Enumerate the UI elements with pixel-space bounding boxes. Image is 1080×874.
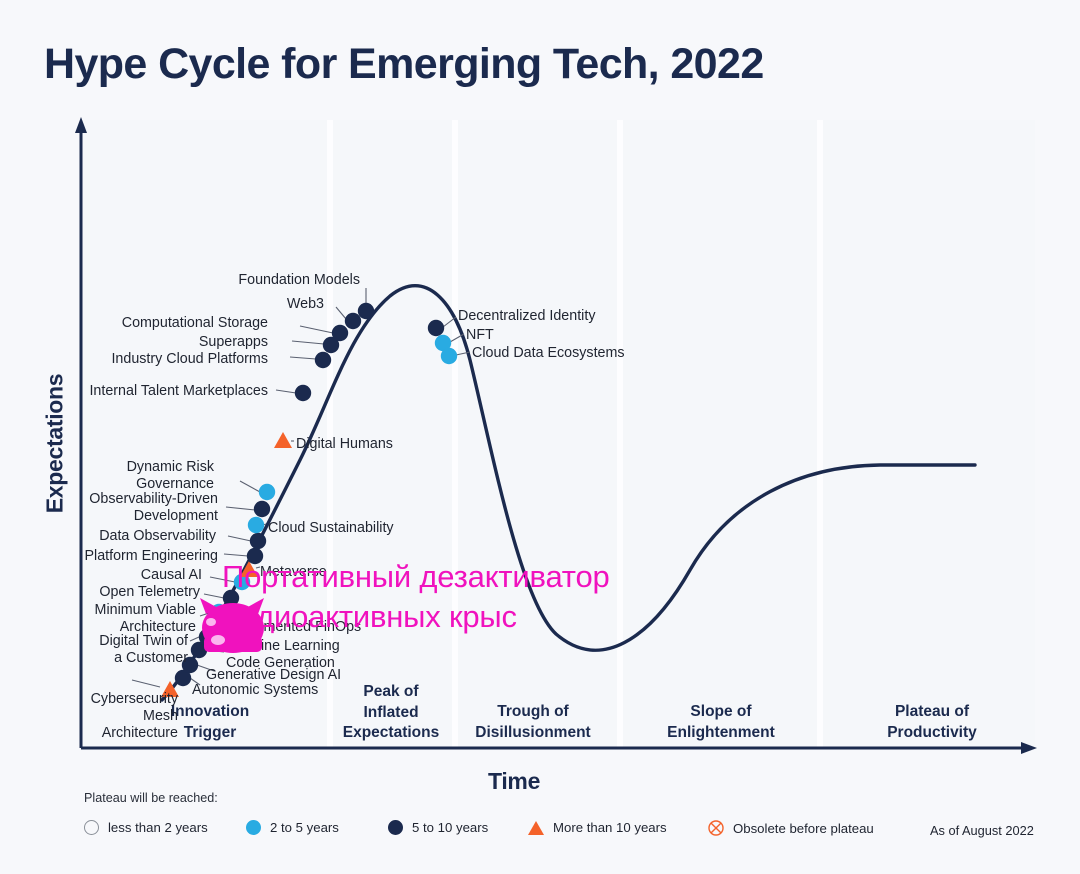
y-axis-title: Expectations	[42, 344, 69, 544]
plot-area: Expectations Time Innovation TriggerPeak…	[0, 0, 1080, 874]
triangle-icon	[528, 821, 544, 835]
marker-internal-talent-marketplaces[interactable]	[295, 385, 311, 401]
tech-label-minimum-viable-architecture: Minimum Viable Architecture	[86, 602, 196, 636]
ring-icon	[84, 820, 99, 835]
phase-label-plateau-of-productivity: Plateau of Productivity	[822, 702, 1042, 743]
phase-divider-3	[817, 120, 823, 748]
legend-item-less-than-2-years[interactable]: less than 2 years	[84, 820, 208, 835]
tech-label-data-observability: Data Observability	[94, 528, 216, 545]
tech-label-platform-engineering: Platform Engineering	[78, 548, 218, 565]
tech-label-open-telemetry: Open Telemetry	[88, 584, 200, 601]
tech-label-industry-cloud-platforms: Industry Cloud Platforms	[80, 351, 268, 368]
marker-observability-driven-development[interactable]	[254, 501, 270, 517]
overlay-annotation-text: Портативный дезактиватор радиоактивных к…	[222, 557, 722, 636]
tech-label-autonomic-systems: Autonomic Systems	[192, 682, 332, 699]
tech-label-decentralized-identity: Decentralized Identity	[458, 308, 618, 325]
obsolete-icon	[708, 820, 724, 836]
legend-item-more-than-10-years[interactable]: More than 10 years	[528, 820, 667, 835]
marker-dynamic-risk-governance[interactable]	[259, 484, 275, 500]
hype-cycle-infographic: Hype Cycle for Emerging Tech, 2022 Expec…	[0, 0, 1080, 874]
tech-label-superapps: Superapps	[128, 334, 268, 351]
marker-data-observability[interactable]	[250, 533, 266, 549]
tech-label-web3: Web3	[224, 296, 324, 313]
marker-industry-cloud-platforms[interactable]	[315, 352, 331, 368]
tech-label-foundation-models: Foundation Models	[202, 272, 360, 289]
phase-label-slope-of-enlightenment: Slope of Enlightenment	[611, 702, 831, 743]
legend-item-2-to-5-years[interactable]: 2 to 5 years	[246, 820, 339, 835]
marker-cloud-sustainability[interactable]	[248, 517, 264, 533]
marker-web3[interactable]	[345, 313, 361, 329]
legend-label: More than 10 years	[553, 820, 667, 835]
x-axis-title: Time	[488, 768, 540, 795]
tech-label-digital-humans: Digital Humans	[296, 436, 416, 453]
legend-caption: Plateau will be reached:	[84, 791, 218, 805]
radioactive-rat-deactivator-sticker	[196, 596, 274, 656]
tech-label-causal-ai: Causal AI	[98, 567, 202, 584]
legend-label: Obsolete before plateau	[733, 821, 874, 836]
marker-foundation-models[interactable]	[358, 303, 374, 319]
tech-label-computational-storage: Computational Storage	[86, 315, 268, 332]
tech-label-cybersecurity-mesh-architecture: Cybersecurity Mesh Architecture	[88, 691, 178, 742]
legend-label: 2 to 5 years	[270, 820, 339, 835]
legend-label: 5 to 10 years	[412, 820, 488, 835]
legend-item-obsolete-before-plateau[interactable]: Obsolete before plateau	[708, 820, 874, 836]
tech-label-nft: NFT	[466, 327, 526, 344]
tech-label-dynamic-risk-governance: Dynamic Risk Governance	[104, 459, 214, 493]
tech-label-digital-twin-of-a-customer: Digital Twin of a Customer	[78, 633, 188, 667]
tech-label-internal-talent-marketplaces: Internal Talent Marketplaces	[78, 383, 268, 400]
circle-icon	[388, 820, 403, 835]
marker-computational-storage[interactable]	[332, 325, 348, 341]
tech-label-cloud-data-ecosystems: Cloud Data Ecosystems	[472, 345, 642, 362]
legend-label: less than 2 years	[108, 820, 208, 835]
circle-icon	[246, 820, 261, 835]
as-of-date: As of August 2022	[930, 823, 1034, 838]
legend-item-5-to-10-years[interactable]: 5 to 10 years	[388, 820, 488, 835]
phase-label-trough-of-disillusionment: Trough of Disillusionment	[423, 702, 643, 743]
marker-decentralized-identity[interactable]	[428, 320, 444, 336]
phase-divider-1	[452, 120, 458, 748]
marker-cloud-data-ecosystems[interactable]	[441, 348, 457, 364]
phase-divider-2	[617, 120, 623, 748]
tech-label-observability-driven-development: Observability-Driven Development	[78, 491, 218, 525]
tech-label-cloud-sustainability: Cloud Sustainability	[268, 520, 408, 537]
